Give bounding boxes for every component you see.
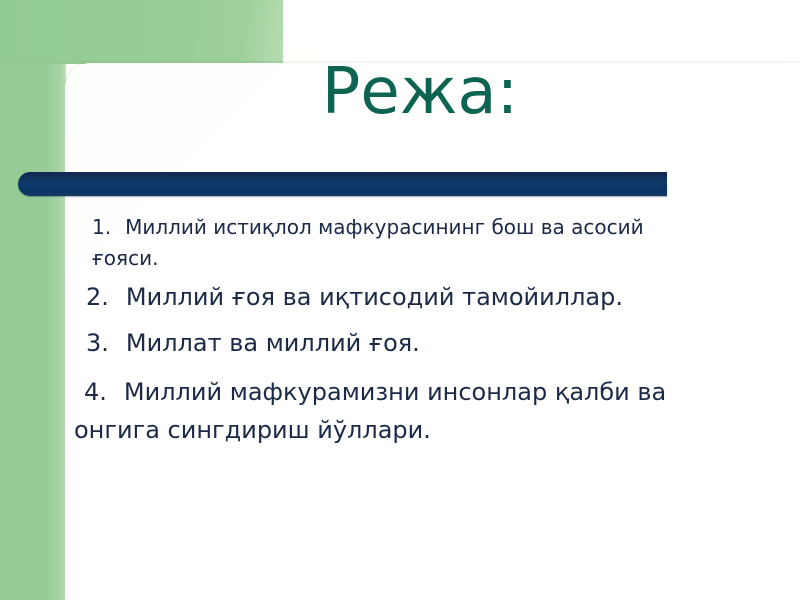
top-green-block [0,0,283,64]
list-item-number: 3. [86,329,109,357]
list-item-number: 1. [92,215,111,239]
list-item: 2.Миллий ғоя ва иқтисодий тамойиллар. [86,281,726,313]
presentation-slide: Режа: 1.Миллий истиқлол мафкурасининг бо… [0,0,800,600]
title-underline-bar [18,172,667,196]
list-item: 3.Миллат ва миллий ғоя. [86,327,726,359]
list-item: 4.Миллий мафкурамизни инсонлар қалби ва … [74,373,754,449]
list-item: 1.Миллий истиқлол мафкурасининг бош ва а… [92,212,692,274]
list-item-text: Миллий ғоя ва иқтисодий тамойиллар. [126,283,623,311]
list-item-number: 2. [86,283,109,311]
slide-title: Режа: [120,60,720,124]
list-item-text: Миллат ва миллий ғоя. [126,329,420,357]
left-green-sidebar-band [0,0,66,600]
list-item-text: Миллий мафкурамизни инсонлар қалби ва он… [74,378,666,444]
list-item-text: Миллий истиқлол мафкурасининг бош ва асо… [92,215,644,270]
list-item-number: 4. [84,378,107,406]
